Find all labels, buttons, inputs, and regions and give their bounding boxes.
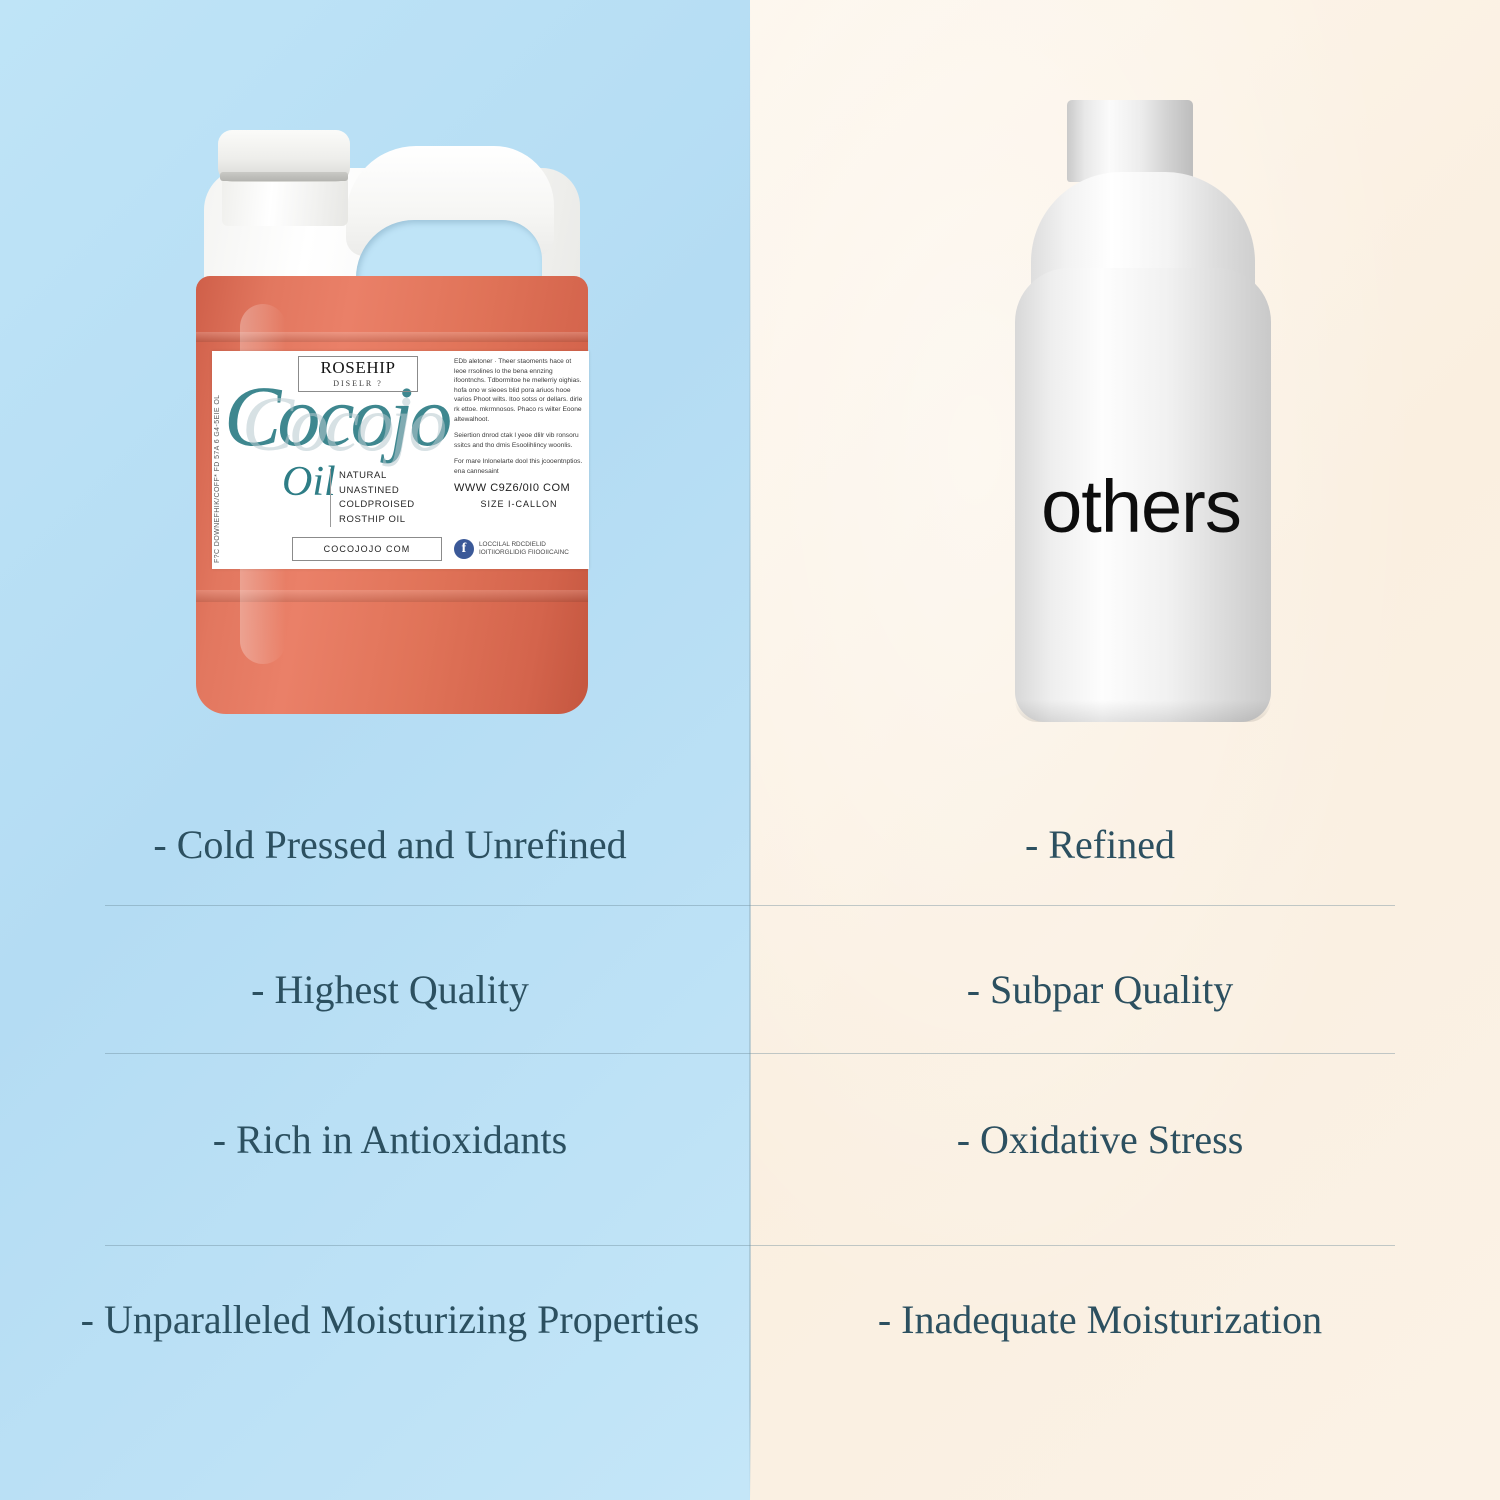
right-feature-3: - Oxidative Stress [770,1085,1430,1195]
label-script-oil: Oil [282,461,336,503]
rosehip-oil-gallon-jug: F?C DOWNEFHIK/COFF* FD 57A 6 G4-5EIE OL … [196,108,588,714]
left-feature-4: - Unparalleled Moisturizing Properties [60,1255,720,1385]
label-disclaimer-3: For mare Inlonelarte dool this jcooentnp… [454,457,584,476]
jug-cap-band [220,172,348,181]
label-disclaimer-1: EDb aletoner · Theer staoments hace ot l… [454,357,584,424]
row-divider-right-2 [750,1053,1395,1054]
right-feature-4: - Inadequate Moisturization [770,1255,1430,1385]
row-divider-left-2 [105,1053,750,1054]
facebook-icon: f [454,539,474,559]
row-divider-right-3 [750,1245,1395,1246]
label-size: SIZE I-CALLON [454,500,584,510]
label-social-row: f LOCCILAL RDCDIELID IOITIIORGLIDIG FIIO… [454,539,569,559]
row-divider-left-3 [105,1245,750,1246]
label-website-box: COCOJOJO COM [292,537,442,561]
label-brand-box: ROSEHIP DISELR ? [298,356,418,392]
comparison-infographic: F?C DOWNEFHIK/COFF* FD 57A 6 G4-5EIE OL … [0,0,1500,1500]
bottle-label-text: others [995,470,1287,544]
right-feature-2: - Subpar Quality [770,935,1430,1045]
others-plastic-bottle: others [995,100,1287,722]
label-script-cocojo-ghost: Cocojo [242,385,443,463]
right-feature-1: - Refined [770,790,1430,900]
label-specs-list: NATURAL UNASTINED COLDPROISED ROSTHIP OI… [330,469,415,527]
left-feature-3: - Rich in Antioxidants [60,1085,720,1195]
bottle-cap [1067,100,1193,182]
label-brand-subtitle: DISELR ? [299,378,417,389]
column-divider [749,0,751,1500]
row-divider-right-1 [750,905,1395,906]
row-divider-left-1 [105,905,750,906]
label-info-column: EDb aletoner · Theer staoments hace ot l… [454,357,584,510]
left-feature-1: - Cold Pressed and Unrefined [60,790,720,900]
left-feature-2: - Highest Quality [60,935,720,1045]
label-social-text: LOCCILAL RDCDIELID IOITIIORGLIDIG FIIOOI… [479,541,569,558]
product-label: F?C DOWNEFHIK/COFF* FD 57A 6 G4-5EIE OL … [212,351,589,569]
label-brand-name: ROSEHIP [299,357,417,378]
label-disclaimer-2: Seiertion dnrod ctak l yeoe dlilr vib ro… [454,431,584,450]
label-url: WWW C9Z6/0I0 COM [454,484,584,494]
